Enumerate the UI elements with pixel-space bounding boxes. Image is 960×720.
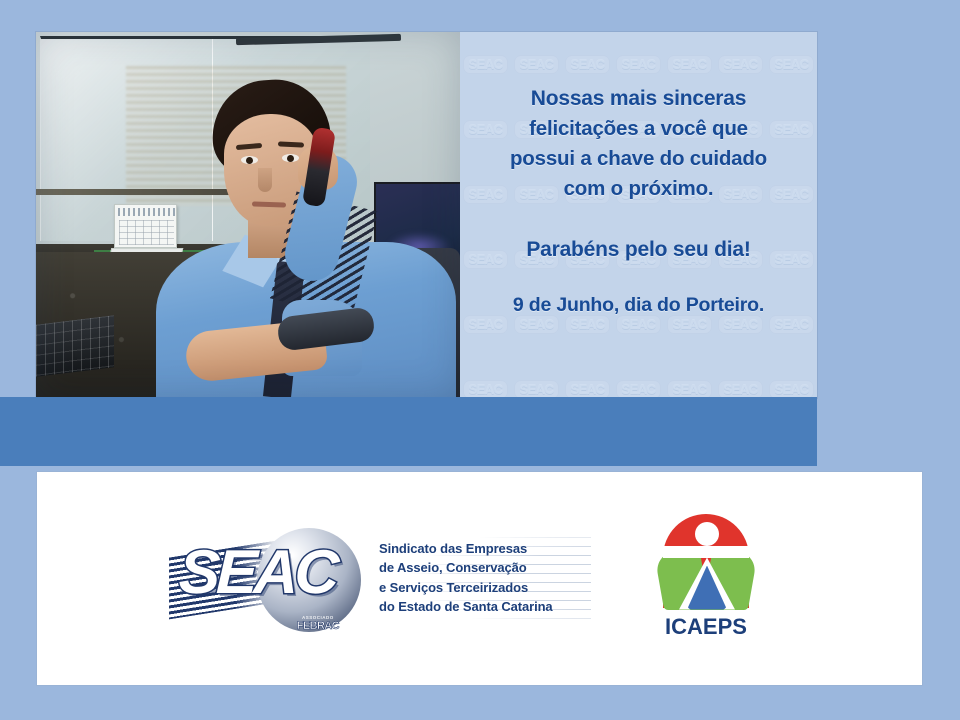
watermark-tile: SEAC [463,315,507,334]
watermark-tile: SEAC [616,315,660,334]
watermark-tile: SEAC [565,315,609,334]
blue-divider-bar [0,397,817,466]
message-date: 9 de Junho, dia do Porteiro. [474,294,803,317]
photo-desk-calendar [114,204,177,248]
seac-tagline-lines: Sindicato das Empresas de Asseio, Conser… [379,531,594,617]
icaeps-white-head [695,522,719,546]
seac-wordmark: SEAC [178,542,336,604]
message-line-1: Nossas mais sinceras [474,84,803,114]
tagline-line-1: Sindicato das Empresas [379,539,594,559]
message-line-3: possui a chave do cuidado [474,144,803,174]
febrac-name: FEBRAC [297,621,339,632]
photo-keyboard [36,315,114,377]
watermark-tile: SEAC [667,380,711,398]
tagline-line-3: e Serviços Terceirizados [379,578,594,598]
watermark-tile: SEAC [769,380,813,398]
tagline-line-2: de Asseio, Conservação [379,558,594,578]
seac-logo-group: SEAC ASSOCIADO FEBRAC Sindicato das Empr… [169,524,594,634]
footer-panel: SEAC ASSOCIADO FEBRAC Sindicato das Empr… [37,472,922,685]
icaeps-logo-icon [657,514,755,610]
photo-eye-right [282,154,299,162]
message-line-4: com o próximo. [474,174,803,204]
watermark-tile: SEAC [514,315,558,334]
logo-row: SEAC ASSOCIADO FEBRAC Sindicato das Empr… [37,472,922,685]
photo-nose [258,168,272,192]
watermark-tile: SEAC [769,315,813,334]
febrac-badge: ASSOCIADO FEBRAC [297,616,339,632]
message-line-2: felicitações a você que [474,114,803,144]
tagline-line-4: do Estado de Santa Catarina [379,597,594,617]
icaeps-logo: ICAEPS [652,514,760,644]
photo-eye-left [241,156,258,164]
watermark-tile: SEAC [718,315,762,334]
watermark-tile: SEAC [718,380,762,398]
message-panel: SEAC SEAC SEAC SEAC SEAC SEAC SEAC SEAC … [460,32,817,398]
watermark-tile: SEAC [616,380,660,398]
message-text-block: Nossas mais sinceras felicitações a você… [460,32,817,317]
seac-logo-icon: SEAC ASSOCIADO FEBRAC [169,524,369,634]
photo-porteiro [36,32,460,398]
icaeps-label: ICAEPS [652,614,760,640]
seac-tagline: Sindicato das Empresas de Asseio, Conser… [379,531,594,627]
icaeps-white-gap [663,546,749,558]
watermark-tile: SEAC [514,380,558,398]
watermark-tile: SEAC [667,315,711,334]
message-congratulations: Parabéns pelo seu dia! [474,238,803,262]
febrac-associated-label: ASSOCIADO [297,616,339,621]
watermark-tile: SEAC [565,380,609,398]
watermark-tile: SEAC [463,380,507,398]
top-banner: SEAC SEAC SEAC SEAC SEAC SEAC SEAC SEAC … [36,32,817,398]
